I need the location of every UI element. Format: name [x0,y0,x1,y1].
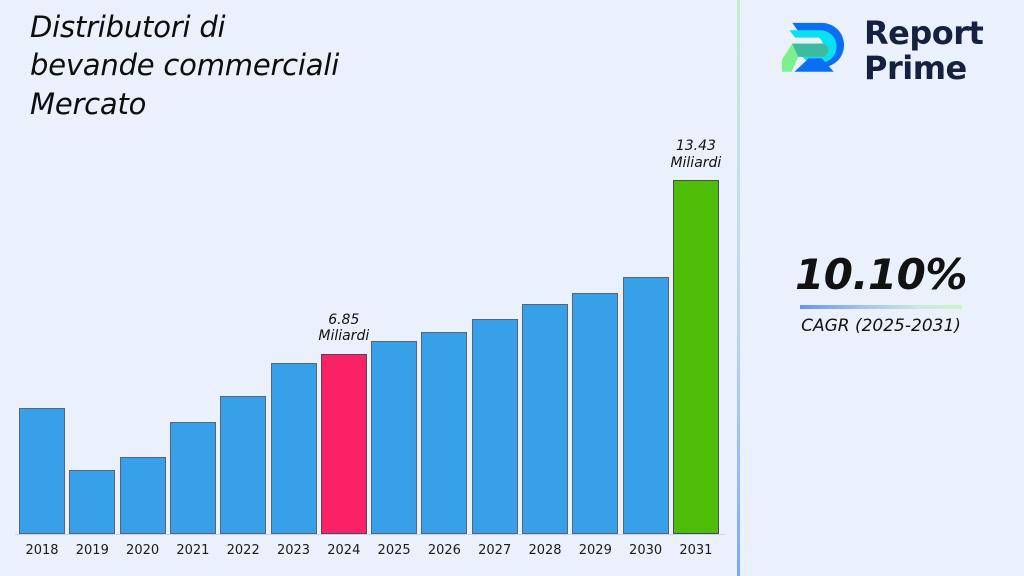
bar-2023 [271,363,317,534]
cagr-caption: CAGR (2025-2031) [738,316,1024,336]
bar-2019 [69,470,115,534]
bar-chart-plot-area: 6.85 Miliardi13.43 Miliardi 201820192020… [0,0,738,576]
x-tick-2031: 2031 [673,543,719,558]
cagr-divider-rule [800,305,962,309]
bar-2022 [220,396,266,534]
x-tick-2029: 2029 [572,543,618,558]
bar-2025 [371,341,417,534]
x-tick-2024: 2024 [321,543,367,558]
x-tick-2025: 2025 [371,543,417,558]
x-tick-2028: 2028 [522,543,568,558]
brand-name-line2: Prime [864,51,983,86]
bar-2031 [673,180,719,534]
cagr-block: 10.10% CAGR (2025-2031) [738,250,1024,336]
infographic-root: Distributori di bevande commerciali Merc… [0,0,1024,576]
x-axis-line [15,534,725,535]
bar-2018 [19,408,65,534]
chart-panel: Distributori di bevande commerciali Merc… [0,0,738,576]
bar-2030 [623,277,669,534]
info-panel: Report Prime 10.10% CAGR (2025-2031) [738,0,1024,576]
x-tick-2021: 2021 [170,543,216,558]
bar-2027 [472,319,518,534]
x-tick-2018: 2018 [19,543,65,558]
x-tick-2026: 2026 [421,543,467,558]
x-tick-2019: 2019 [69,543,115,558]
brand-name-line1: Report [864,16,983,51]
x-tick-2030: 2030 [623,543,669,558]
brand-logo: Report Prime [776,14,983,88]
x-tick-2023: 2023 [271,543,317,558]
bar-2024 [321,354,367,534]
bar-2020 [120,457,166,534]
x-tick-2022: 2022 [220,543,266,558]
bar-value-label-2031: 13.43 Miliardi [641,138,751,171]
bar-value-label-2024: 6.85 Miliardi [289,312,399,345]
bar-2028 [522,304,568,534]
x-tick-2020: 2020 [120,543,166,558]
report-prime-r-mark-icon [776,14,850,88]
x-tick-2027: 2027 [472,543,518,558]
cagr-value: 10.10% [738,250,1024,299]
bar-2029 [572,293,618,534]
bar-2021 [170,422,216,534]
bar-2026 [421,332,467,534]
brand-wordmark: Report Prime [864,16,983,85]
